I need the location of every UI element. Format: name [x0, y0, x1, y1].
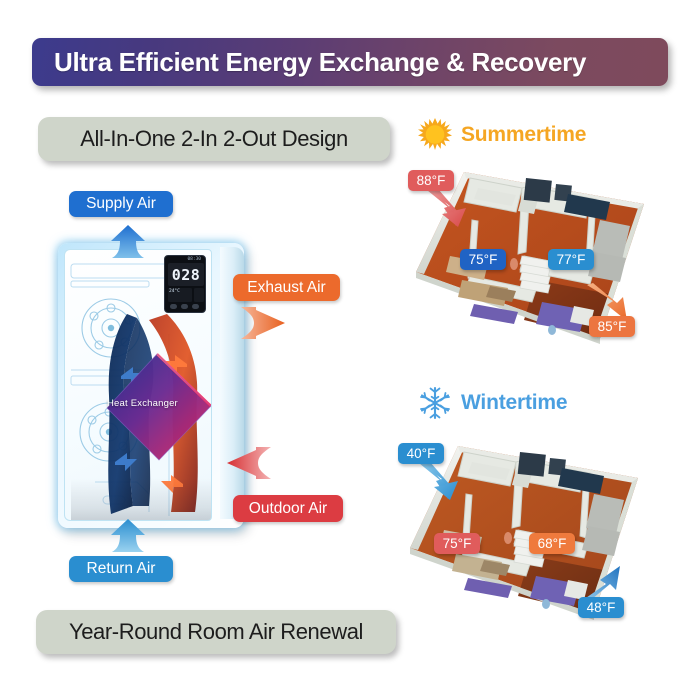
header-banner: Ultra Efficient Energy Exchange & Recove…: [32, 38, 668, 86]
summer-temp-room-b: 77°F: [548, 249, 594, 270]
display-sub-value: 24°C: [169, 289, 180, 294]
sun-icon: [418, 118, 452, 152]
season-heading-summer: Summertime: [418, 118, 586, 152]
display-value: 028: [172, 266, 201, 284]
display-main-window: 028: [168, 263, 204, 286]
display-clock: 08:30: [187, 257, 201, 262]
return-air-arrow-icon: [104, 518, 152, 554]
caption-renewal: Year-Round Room Air Renewal: [36, 610, 396, 654]
page-title: Ultra Efficient Energy Exchange & Recove…: [32, 47, 586, 78]
display-sub-window-2: [194, 288, 204, 302]
snowflake-icon: [418, 386, 452, 420]
caption-design: All-In-One 2-In 2-Out Design: [38, 117, 390, 161]
infographic-canvas: Ultra Efficient Energy Exchange & Recove…: [0, 0, 700, 700]
exhaust-air-arrow-icon: [240, 303, 288, 343]
display-button-row[interactable]: [170, 304, 199, 309]
season-label-summer: Summertime: [461, 123, 586, 147]
winter-temp-room-a: 75°F: [434, 533, 480, 554]
control-panel-display[interactable]: 08:30 028 24°C: [164, 255, 206, 313]
outdoor-air-arrow-icon: [224, 443, 272, 483]
season-heading-winter: Wintertime: [418, 386, 567, 420]
heat-exchanger-label: Heat Exchanger: [107, 398, 212, 409]
summer-temp-exhaust: 85°F: [589, 316, 635, 337]
unit-base-shadow: [71, 478, 212, 521]
label-return-air: Return Air: [69, 556, 173, 582]
panel-button-3[interactable]: [192, 304, 199, 309]
winter-temp-room-b: 68°F: [529, 533, 575, 554]
label-exhaust-air: Exhaust Air: [233, 274, 340, 301]
winter-temp-intake: 40°F: [398, 443, 444, 464]
label-outdoor-air: Outdoor Air: [233, 495, 343, 522]
summer-temp-intake: 88°F: [408, 170, 454, 191]
panel-button-2[interactable]: [181, 304, 188, 309]
hrv-unit-illustration: Heat Exchanger 08:30 028 24°C: [58, 243, 244, 528]
winter-temp-exhaust: 48°F: [578, 597, 624, 618]
season-label-winter: Wintertime: [461, 391, 567, 415]
panel-button-1[interactable]: [170, 304, 177, 309]
label-supply-air: Supply Air: [69, 191, 173, 217]
supply-air-arrow-icon: [104, 224, 152, 260]
summer-temp-room-a: 75°F: [460, 249, 506, 270]
